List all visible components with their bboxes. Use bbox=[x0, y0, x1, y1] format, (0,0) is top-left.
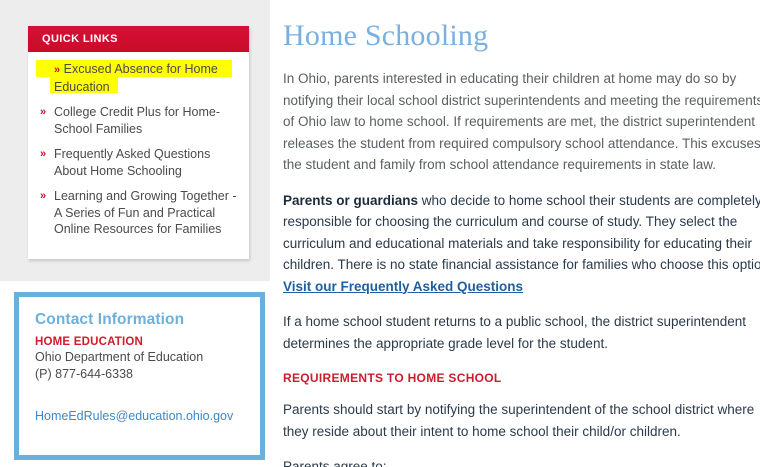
quick-links-link[interactable]: Learning and Growing Together - A Series… bbox=[54, 189, 237, 236]
contact-email-link[interactable]: HomeEdRules@education.ohio.gov bbox=[35, 409, 244, 423]
contact-organization: Ohio Department of Education bbox=[35, 349, 244, 366]
page-title: Home Schooling bbox=[283, 18, 760, 54]
quick-links-header: QUICK LINKS bbox=[28, 26, 249, 52]
parents-agree-paragraph: Parents agree to: bbox=[283, 456, 760, 467]
notify-superintendent-paragraph: Parents should start by notifying the su… bbox=[283, 399, 760, 442]
contact-information-box: Contact Information HOME EDUCATION Ohio … bbox=[14, 292, 265, 460]
chevron-right-icon: » bbox=[40, 188, 46, 205]
quick-links-link[interactable]: Frequently Asked Questions About Home Sc… bbox=[54, 147, 210, 178]
contact-inner: Contact Information HOME EDUCATION Ohio … bbox=[19, 297, 260, 423]
quick-links-header-label: QUICK LINKS bbox=[42, 33, 118, 45]
contact-title: Contact Information bbox=[35, 311, 244, 329]
page-root: QUICK LINKS » Excused Absence for Home E… bbox=[0, 0, 760, 467]
contact-subtitle: HOME EDUCATION bbox=[35, 336, 244, 348]
requirements-section-heading: REQUIREMENTS TO HOME SCHOOL bbox=[283, 371, 760, 385]
faq-link[interactable]: Visit our Frequently Asked Questions bbox=[283, 279, 523, 294]
quick-links-link[interactable]: College Credit Plus for Home-School Fami… bbox=[54, 105, 220, 136]
main-content: Home Schooling In Ohio, parents interest… bbox=[283, 0, 760, 467]
paragraph-lead-bold: Parents or guardians bbox=[283, 193, 418, 208]
quick-links-item-college-credit-plus[interactable]: » College Credit Plus for Home-School Fa… bbox=[40, 104, 237, 137]
quick-links-item-excused-absence[interactable]: » Excused Absence for Home Education bbox=[40, 61, 237, 95]
chevron-right-icon: » bbox=[40, 104, 46, 121]
quick-links-panel: QUICK LINKS » Excused Absence for Home E… bbox=[28, 26, 249, 259]
responsibility-paragraph: Parents or guardians who decide to home … bbox=[283, 190, 760, 298]
quick-links-list: » Excused Absence for Home Education » C… bbox=[28, 52, 249, 238]
return-to-public-school-paragraph: If a home school student returns to a pu… bbox=[283, 311, 760, 354]
intro-paragraph: In Ohio, parents interested in educating… bbox=[283, 68, 760, 176]
sidebar: QUICK LINKS » Excused Absence for Home E… bbox=[0, 0, 270, 467]
chevron-right-icon: » bbox=[40, 146, 46, 163]
chevron-right-icon: » bbox=[54, 64, 60, 76]
quick-links-item-faq[interactable]: » Frequently Asked Questions About Home … bbox=[40, 146, 237, 179]
quick-links-item-learning-growing[interactable]: » Learning and Growing Together - A Seri… bbox=[40, 188, 237, 238]
contact-phone: (P) 877-644-6338 bbox=[35, 366, 244, 383]
